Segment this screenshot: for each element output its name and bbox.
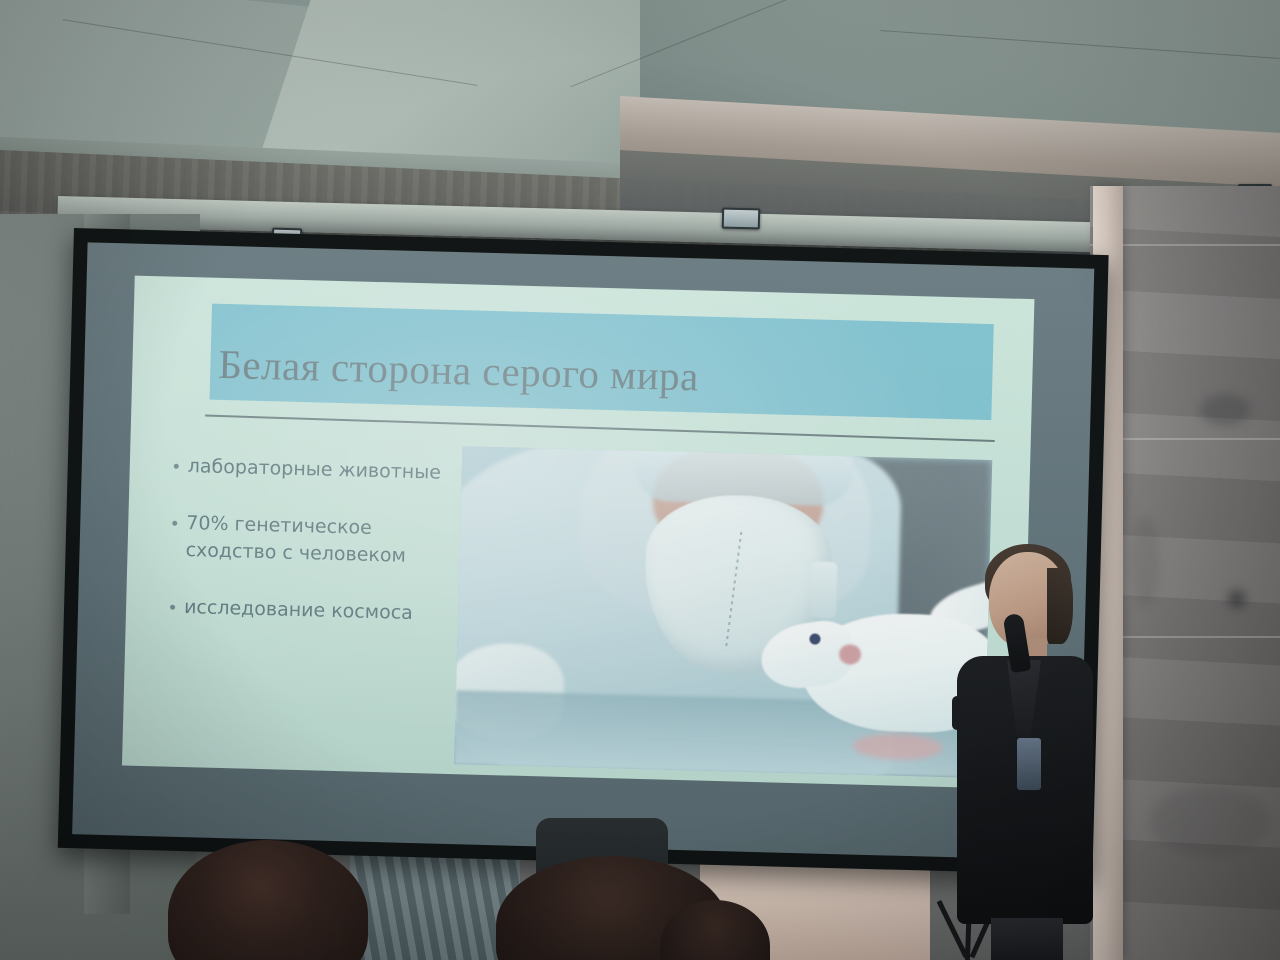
presenter: [955, 552, 1095, 960]
bullet-dot-icon: [172, 521, 177, 526]
photo-mask-strap: [810, 561, 837, 618]
slide-title-rule: [205, 414, 995, 442]
bullet-text: 70% генетическое сходство с человеком: [185, 510, 452, 571]
slide-photo-lab-rat: [454, 446, 992, 778]
ceiling-light-right-icon: [722, 208, 761, 230]
bullet-text: исследование космоса: [184, 594, 413, 627]
list-item: лабораторные животные: [173, 453, 454, 487]
presenter-legs: [991, 918, 1063, 960]
bullet-dot-icon: [174, 464, 179, 469]
projected-slide: Белая сторона серого мира лабораторные ж…: [122, 276, 1035, 789]
list-item: 70% генетическое сходство с человеком: [171, 510, 452, 571]
presenter-hair-side: [1047, 568, 1073, 644]
presenter-badge: [1017, 738, 1041, 790]
bullet-text: лабораторные животные: [187, 453, 441, 487]
list-item: исследование космоса: [170, 594, 451, 628]
presentation-photo-scene: Белая сторона серого мира лабораторные ж…: [0, 0, 1280, 960]
bullet-dot-icon: [170, 605, 175, 610]
slide-bullet-list: лабораторные животные 70% генетическое с…: [169, 453, 454, 658]
